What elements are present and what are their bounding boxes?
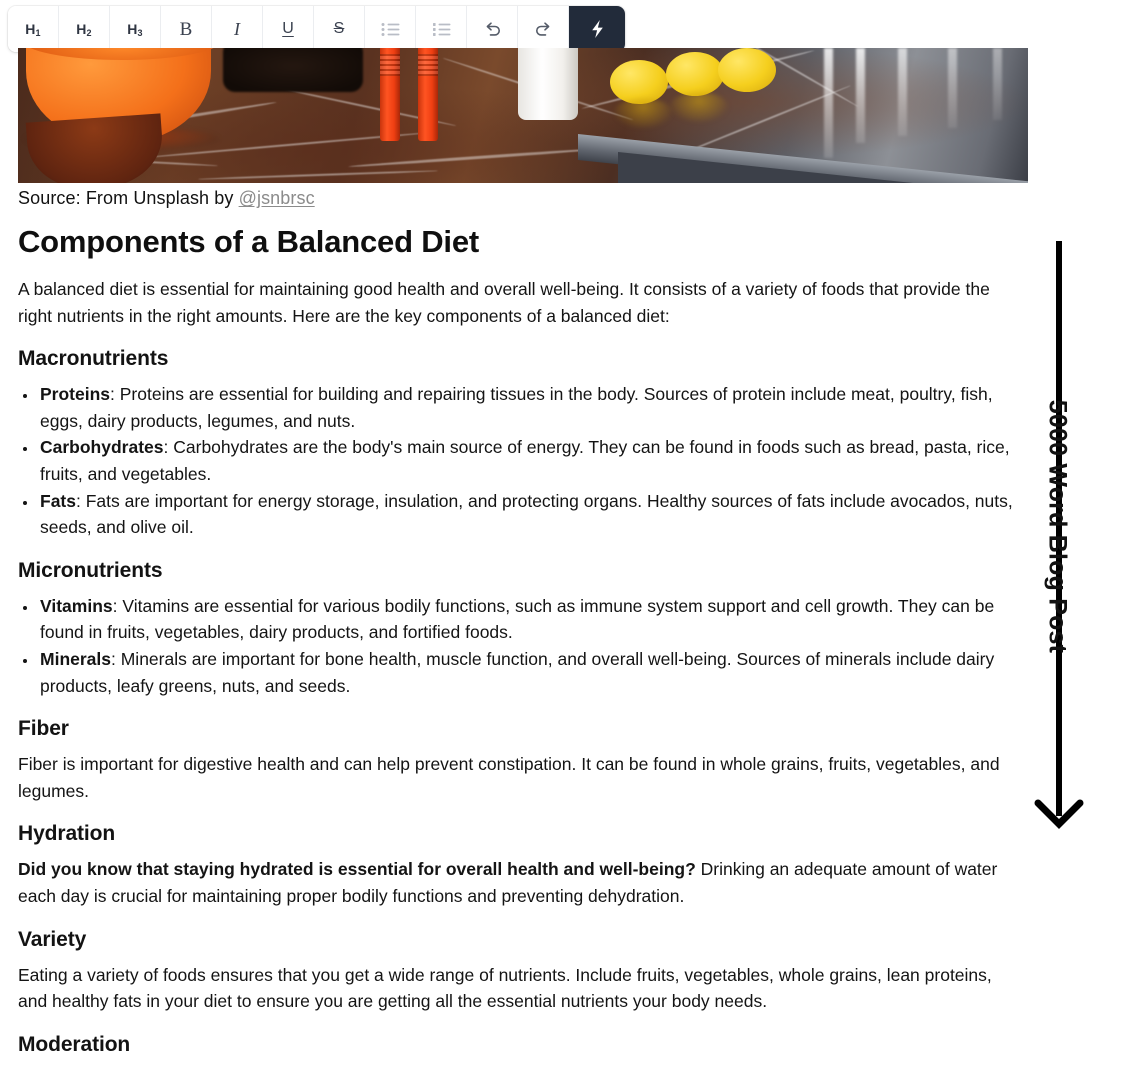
length-annotation: 5000 Word Blog Post	[1030, 236, 1092, 836]
editor-toolbar: H1 H2 H3 B I U S	[8, 6, 625, 52]
numbered-list-button[interactable]	[416, 6, 467, 52]
redo-button[interactable]	[518, 6, 569, 52]
redo-icon	[534, 21, 553, 38]
section-heading-variety: Variety	[18, 928, 1018, 952]
pepper-grinder-right	[418, 48, 438, 141]
h2-icon: H2	[76, 21, 92, 37]
list-item-term: Minerals	[40, 649, 111, 669]
hero-image[interactable]	[18, 48, 1028, 183]
bullet-list-button[interactable]	[365, 6, 416, 52]
list-item-term: Carbohydrates	[40, 437, 164, 457]
lemon-2	[666, 52, 724, 96]
list-item-text: : Fats are important for energy storage,…	[40, 491, 1013, 538]
list-item-text: : Carbohydrates are the body's main sour…	[40, 437, 1010, 484]
h3-icon: H3	[127, 21, 143, 37]
unsplash-author-link[interactable]: @jsnbrsc	[239, 188, 315, 208]
section-heading-moderation: Moderation	[18, 1033, 1018, 1057]
list-item-term: Fats	[40, 491, 76, 511]
undo-icon	[483, 21, 502, 38]
heading-1-button[interactable]: H1	[8, 6, 59, 52]
list-item: Minerals: Minerals are important for bon…	[38, 646, 1018, 699]
section-heading-fiber: Fiber	[18, 717, 1018, 741]
fiber-paragraph: Fiber is important for digestive health …	[18, 751, 1018, 804]
list-item: Fats: Fats are important for energy stor…	[38, 488, 1018, 541]
pepper-grinder-left	[380, 48, 400, 141]
hydration-lead: Did you know that staying hydrated is es…	[18, 859, 696, 879]
lemon-3	[718, 48, 776, 92]
annotation-label: 5000 Word Blog Post	[1043, 292, 1072, 762]
heading-3-button[interactable]: H3	[110, 6, 161, 52]
variety-paragraph: Eating a variety of foods ensures that y…	[18, 962, 1018, 1015]
page-title: Components of a Balanced Diet	[18, 224, 1018, 260]
strikethrough-button[interactable]: S	[314, 6, 365, 52]
list-item: Proteins: Proteins are essential for bui…	[38, 381, 1018, 434]
undo-button[interactable]	[467, 6, 518, 52]
list-item: Vitamins: Vitamins are essential for var…	[38, 593, 1018, 646]
background-object	[223, 48, 363, 92]
list-item-term: Vitamins	[40, 596, 113, 616]
micronutrients-list: Vitamins: Vitamins are essential for var…	[18, 593, 1018, 699]
list-item-text: : Proteins are essential for building an…	[40, 384, 993, 431]
list-item-text: : Minerals are important for bone health…	[40, 649, 994, 696]
section-heading-micronutrients: Micronutrients	[18, 559, 1018, 583]
list-item-text: : Vitamins are essential for various bod…	[40, 596, 994, 643]
section-heading-macronutrients: Macronutrients	[18, 347, 1018, 371]
heading-2-button[interactable]: H2	[59, 6, 110, 52]
h1-icon: H1	[25, 21, 41, 37]
hydration-paragraph: Did you know that staying hydrated is es…	[18, 856, 1018, 909]
list-item: Carbohydrates: Carbohydrates are the bod…	[38, 434, 1018, 487]
image-caption: Source: From Unsplash by @jsnbrsc	[18, 188, 315, 209]
italic-icon: I	[234, 20, 240, 38]
bold-button[interactable]: B	[161, 6, 212, 52]
intro-paragraph: A balanced diet is essential for maintai…	[18, 276, 1018, 329]
list-item-term: Proteins	[40, 384, 110, 404]
underline-button[interactable]: U	[263, 6, 314, 52]
numbered-list-icon	[432, 22, 451, 37]
white-jar	[518, 48, 578, 120]
lightning-bolt-icon	[589, 19, 606, 39]
ai-assist-button[interactable]	[569, 6, 625, 52]
document-body[interactable]: Components of a Balanced Diet A balanced…	[18, 224, 1018, 1067]
section-heading-hydration: Hydration	[18, 822, 1018, 846]
bullet-list-icon	[381, 22, 400, 37]
strikethrough-icon: S	[334, 21, 345, 37]
macronutrients-list: Proteins: Proteins are essential for bui…	[18, 381, 1018, 541]
underline-icon: U	[282, 21, 294, 37]
arrow-down-icon	[1030, 791, 1092, 836]
italic-button[interactable]: I	[212, 6, 263, 52]
caption-prefix: Source: From Unsplash by	[18, 188, 239, 208]
bold-icon: B	[180, 20, 193, 39]
